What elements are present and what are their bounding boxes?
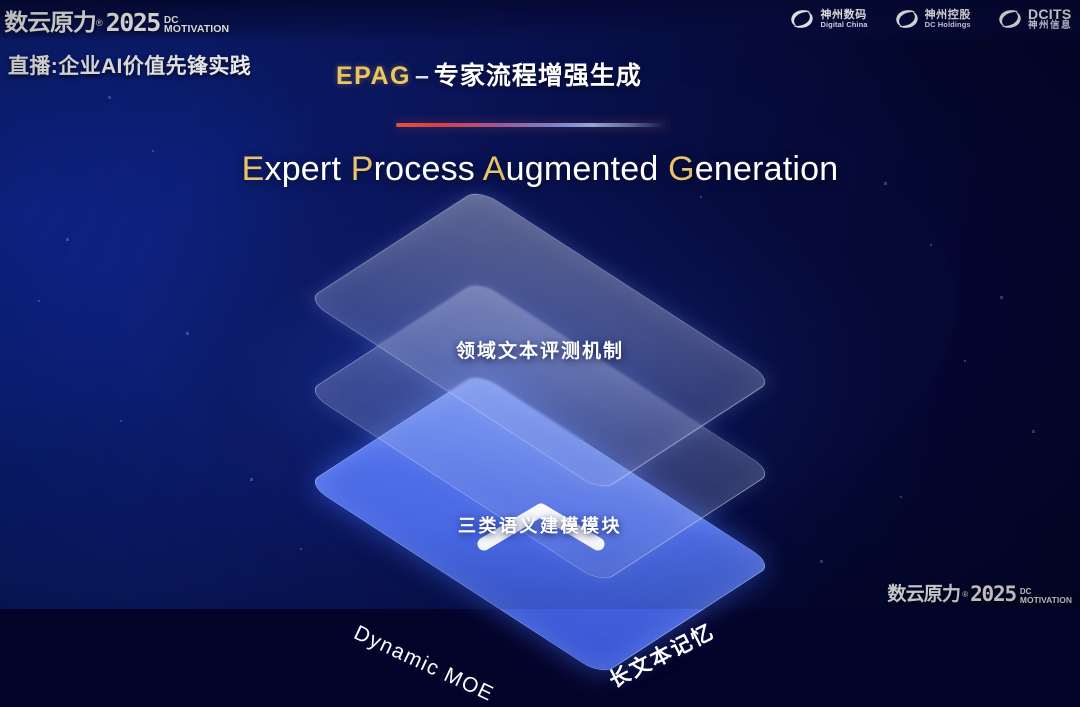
registered-mark-icon: ® [96, 18, 103, 28]
watermark-year: 2025 [970, 582, 1016, 606]
logo-name-cn: 神州信息 [1028, 21, 1072, 31]
word-generation: Generation [668, 150, 838, 188]
watermark-sub-lockup: DC MOTIVATION [1020, 588, 1072, 604]
logo-dcits: DCITS 神州信息 [997, 7, 1072, 31]
title-acronym: EPAG [336, 62, 411, 90]
layer-label-bottom: 三类语义建模模块 [0, 512, 1080, 538]
layer-label-middle-left: Dynamic MOE [350, 621, 498, 707]
word-expert: Expert [242, 150, 341, 188]
brand-year: 2025 [106, 8, 160, 37]
title-english-expansion: Expert Process Augmented Generation [0, 150, 1080, 189]
brand-watermark-bottom-right: 数云原力 ® 2025 DC MOTIVATION [887, 579, 1072, 606]
swirl-icon [789, 8, 815, 30]
registered-mark-icon: ® [962, 590, 968, 599]
brand-logo-top-left: 数云原力 ® 2025 DC MOTIVATION [6, 3, 229, 37]
logo-name-en: DC Holdings [925, 21, 971, 29]
logo-text: DCITS 神州信息 [1028, 7, 1072, 31]
layer-stack-diagram: 领域文本评测机制 Dynamic MOE 长文本记忆 三类语义建模模块 [0, 228, 1080, 558]
partner-logos: 神州数码 Digital China 神州控股 DC Holdings DCIT… [789, 7, 1072, 31]
word-augmented: Augmented [483, 150, 659, 188]
logo-name-en: Digital China [820, 21, 867, 29]
logo-digital-china: 神州数码 Digital China [789, 8, 867, 30]
logo-text: 神州控股 DC Holdings [925, 10, 971, 29]
swirl-icon [894, 8, 920, 30]
title-subtitle-cn: 专家流程增强生成 [434, 62, 642, 90]
brand-sub-lockup: DC MOTIVATION [164, 16, 229, 35]
watermark-name-cn: 数云原力 [887, 579, 960, 606]
swirl-icon [997, 8, 1023, 30]
brand-name-cn: 数云原力 [4, 3, 96, 37]
watermark-sub-line2: MOTIVATION [1020, 596, 1072, 604]
title-dash: – [411, 62, 434, 90]
layer-label-top: 领域文本评测机制 [0, 336, 1080, 363]
title-divider [396, 123, 668, 127]
live-stream-label: 直播:企业AI价值先锋实践 [8, 50, 251, 80]
page-title: EPAG–专家流程增强生成 [336, 56, 642, 92]
brand-sub-line2: MOTIVATION [164, 25, 229, 35]
logo-dc-holdings: 神州控股 DC Holdings [894, 8, 971, 30]
word-process: Process [351, 150, 475, 188]
logo-text: 神州数码 Digital China [820, 10, 867, 29]
